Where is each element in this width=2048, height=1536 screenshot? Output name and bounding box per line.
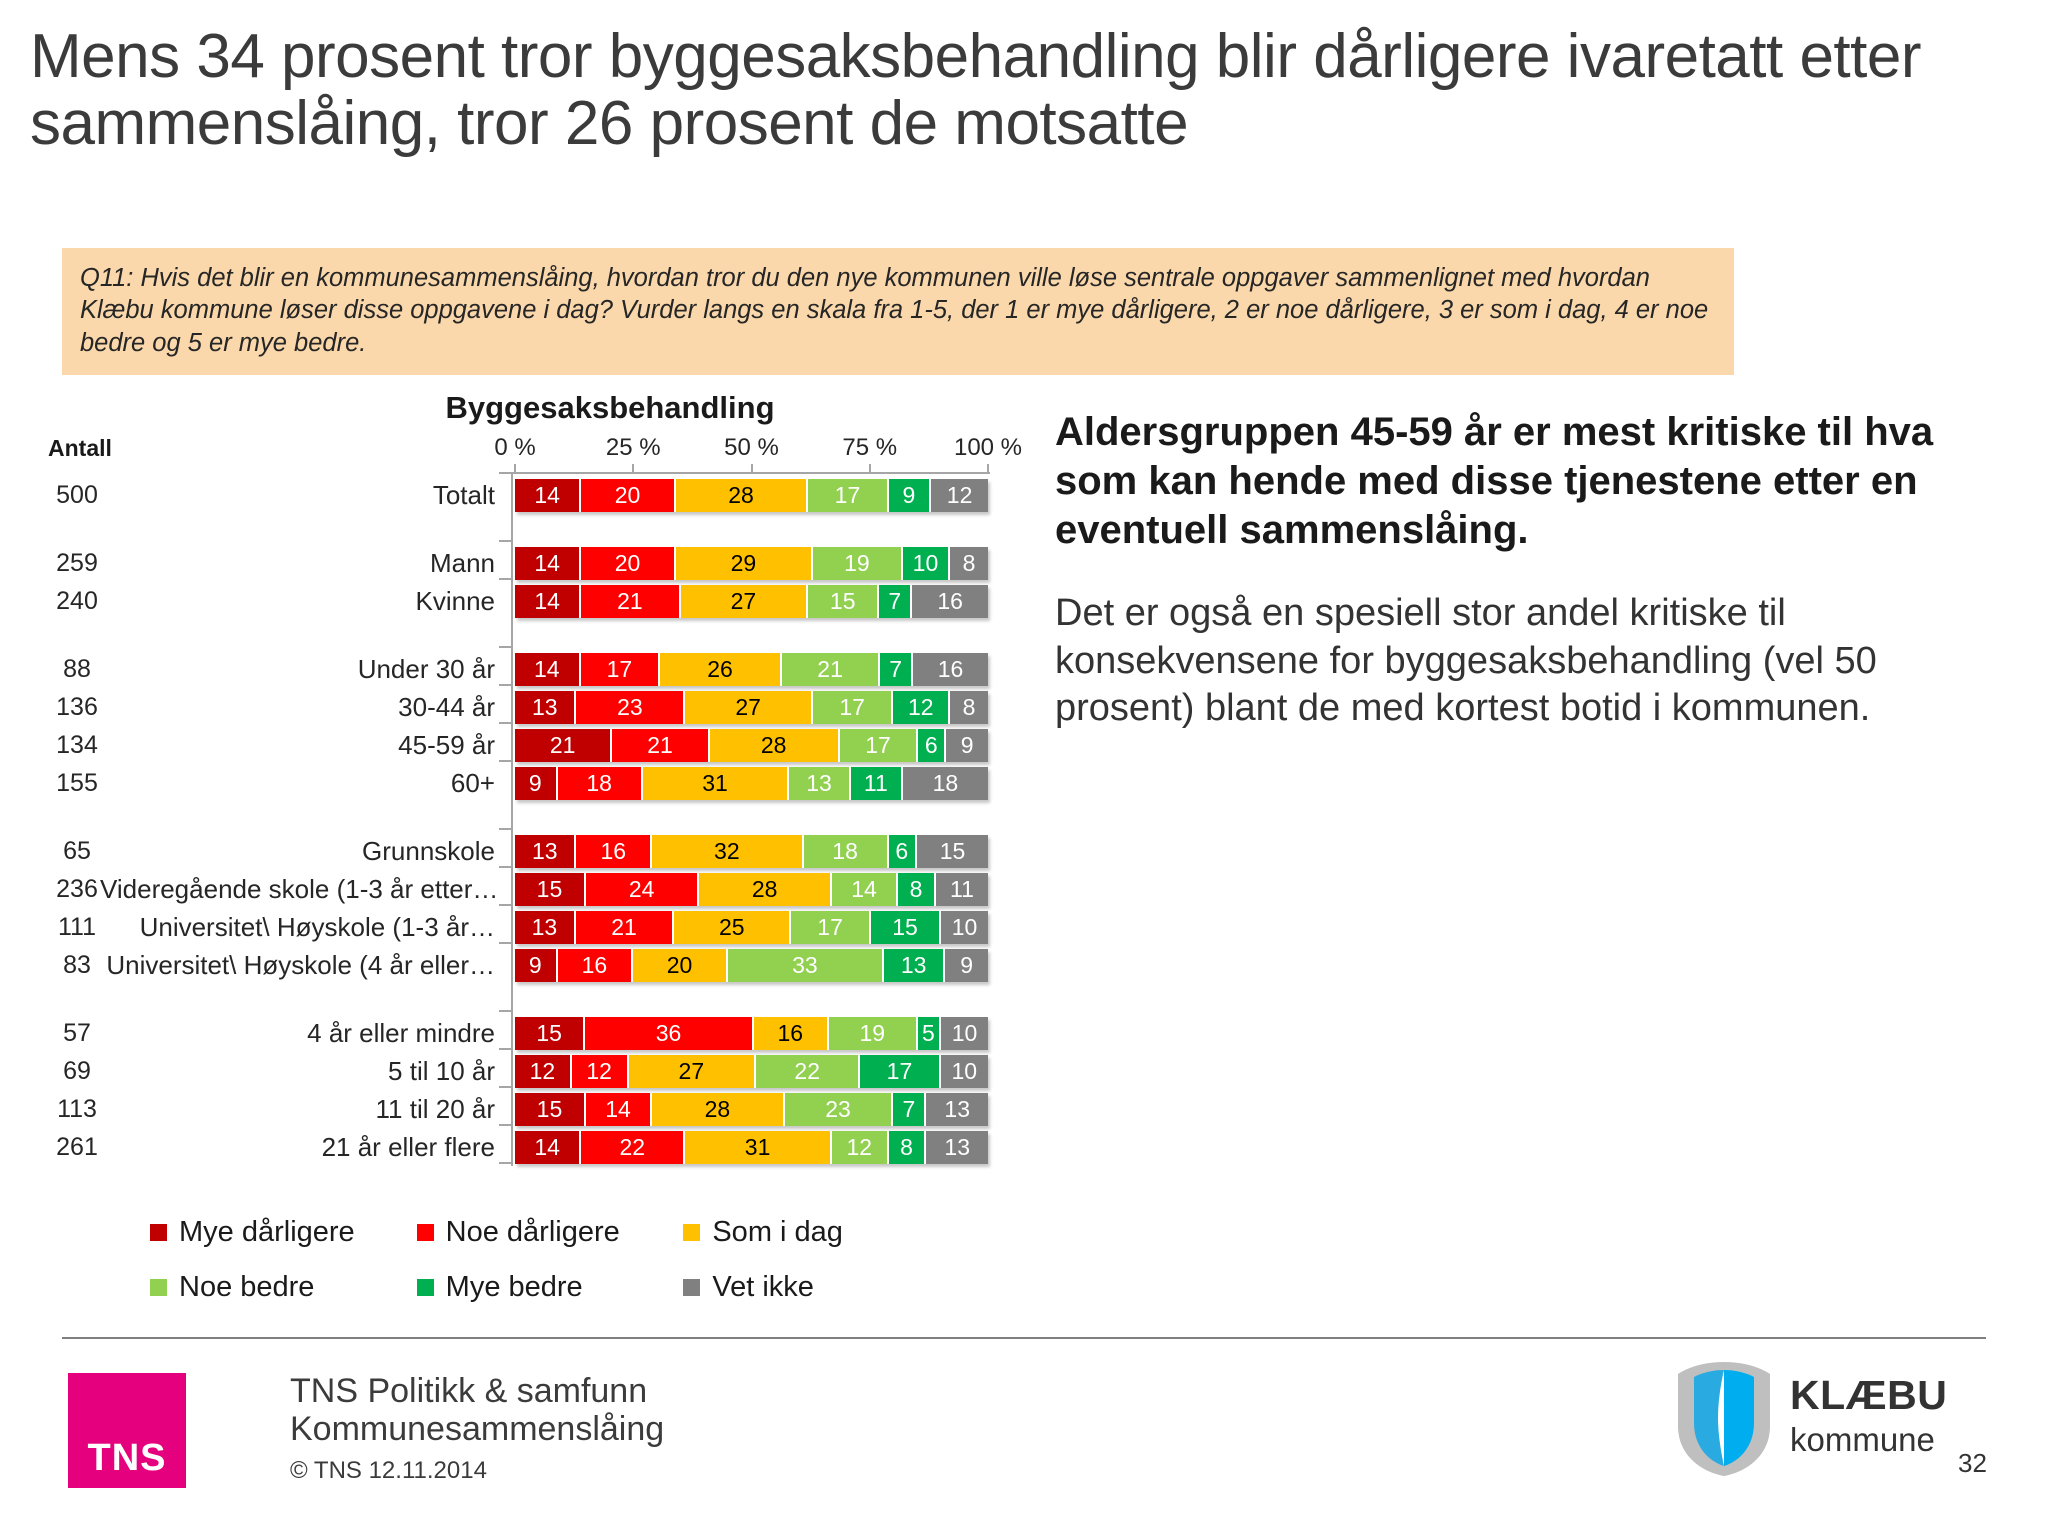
bar-segment: 14 bbox=[515, 653, 581, 686]
y-axis-tick bbox=[499, 722, 511, 724]
stacked-bar: 121227221710 bbox=[515, 1055, 988, 1088]
bar-segment: 13 bbox=[884, 949, 945, 982]
footer-text: TNS Politikk & samfunn Kommunesammenslåi… bbox=[290, 1372, 664, 1485]
row-label: Videregående skole (1-3 år etter… bbox=[100, 870, 495, 908]
x-axis-tick-label: 0 % bbox=[475, 434, 555, 462]
y-axis-tick bbox=[499, 904, 511, 906]
bar-segment: 10 bbox=[941, 1055, 988, 1088]
y-axis-tick bbox=[499, 684, 511, 686]
bar-segment: 26 bbox=[660, 653, 782, 686]
bar-segment: 8 bbox=[950, 547, 988, 580]
y-axis-tick bbox=[499, 646, 511, 648]
legend-label: Noe bedre bbox=[179, 1271, 314, 1304]
legend-item[interactable]: Mye dårligere bbox=[150, 1216, 417, 1249]
bar-segment: 15 bbox=[917, 835, 988, 868]
bar-segment: 16 bbox=[558, 949, 634, 982]
bar-segment: 19 bbox=[829, 1017, 918, 1050]
bar-segment: 36 bbox=[585, 1017, 754, 1050]
row-label: 60+ bbox=[100, 764, 495, 802]
bar-segment: 13 bbox=[926, 1093, 987, 1126]
chart-row: 695 til 10 år121227221710 bbox=[0, 1052, 1020, 1090]
bar-segment: 6 bbox=[918, 729, 946, 762]
legend-swatch-icon bbox=[150, 1224, 167, 1241]
chart-row: 500Totalt14202817912 bbox=[0, 476, 1020, 514]
legend-row: Noe bedreMye bedreVet ikke bbox=[150, 1271, 950, 1304]
bar-segment: 16 bbox=[754, 1017, 829, 1050]
klaebu-sub: kommune bbox=[1790, 1421, 1947, 1459]
commentary-body: Det er også en spesiell stor andel kriti… bbox=[1055, 590, 1985, 731]
stacked-bar: 9162033139 bbox=[515, 949, 988, 982]
y-axis-tick bbox=[499, 540, 511, 542]
chart-row: 574 år eller mindre15361619510 bbox=[0, 1014, 1020, 1052]
chart-row: 13445-59 år2121281769 bbox=[0, 726, 1020, 764]
stacked-bar: 13232717128 bbox=[515, 691, 988, 724]
tns-logo-text: TNS bbox=[68, 1437, 186, 1480]
legend-row: Mye dårligereNoe dårligereSom i dag bbox=[150, 1216, 950, 1249]
bar-segment: 14 bbox=[586, 1093, 652, 1126]
bar-segment: 15 bbox=[871, 911, 941, 944]
bar-segment: 11 bbox=[936, 873, 988, 906]
chart-row: 236Videregående skole (1-3 år etter…1524… bbox=[0, 870, 1020, 908]
y-axis-tick bbox=[499, 1086, 511, 1088]
bar-segment: 9 bbox=[515, 949, 558, 982]
bar-segment: 27 bbox=[629, 1055, 757, 1088]
bar-segment: 14 bbox=[832, 873, 898, 906]
row-label: Under 30 år bbox=[100, 650, 495, 688]
bar-segment: 21 bbox=[515, 729, 612, 762]
bar-segment: 14 bbox=[515, 1131, 581, 1164]
tns-logo: TNS bbox=[68, 1373, 186, 1488]
row-label: Universitet\ Høyskole (4 år eller… bbox=[100, 946, 495, 984]
y-axis-tick bbox=[499, 760, 511, 762]
chart: Byggesaksbehandling Antall 0 %25 %50 %75… bbox=[0, 390, 1020, 1190]
question-box: Q11: Hvis det blir en kommunesammenslåin… bbox=[62, 248, 1734, 375]
bar-segment: 9 bbox=[945, 949, 988, 982]
stacked-bar: 14223112813 bbox=[515, 1131, 988, 1164]
row-label: Kvinne bbox=[100, 582, 495, 620]
y-axis-tick bbox=[499, 828, 511, 830]
bar-segment: 27 bbox=[685, 691, 813, 724]
y-axis-tick bbox=[499, 578, 511, 580]
chart-row: 83Universitet\ Høyskole (4 år eller…9162… bbox=[0, 946, 1020, 984]
bar-segment: 13 bbox=[515, 691, 576, 724]
bar-segment: 8 bbox=[889, 1131, 927, 1164]
x-axis-tick-label: 25 % bbox=[593, 434, 673, 462]
bar-segment: 31 bbox=[685, 1131, 832, 1164]
chart-row: 88Under 30 år14172621716 bbox=[0, 650, 1020, 688]
bar-segment: 7 bbox=[880, 653, 913, 686]
x-axis-tick-label: 50 % bbox=[712, 434, 792, 462]
bar-segment: 8 bbox=[898, 873, 936, 906]
bar-segment: 18 bbox=[903, 767, 988, 800]
chart-row: 240Kvinne14212715716 bbox=[0, 582, 1020, 620]
chart-row: 259Mann14202919108 bbox=[0, 544, 1020, 582]
bar-segment: 32 bbox=[652, 835, 803, 868]
bar-segment: 28 bbox=[710, 729, 840, 762]
row-label: 30-44 år bbox=[100, 688, 495, 726]
bar-segment: 15 bbox=[515, 873, 586, 906]
y-axis-tick bbox=[499, 1162, 511, 1164]
bar-segment: 17 bbox=[860, 1055, 940, 1088]
bar-segment: 9 bbox=[889, 479, 932, 512]
footer-line-1: TNS Politikk & samfunn bbox=[290, 1372, 664, 1410]
bar-segment: 7 bbox=[879, 585, 912, 618]
bar-segment: 13 bbox=[926, 1131, 987, 1164]
bar-segment: 14 bbox=[515, 479, 581, 512]
y-axis-tick bbox=[499, 472, 511, 474]
bar-segment: 28 bbox=[652, 1093, 784, 1126]
bar-segment: 18 bbox=[804, 835, 889, 868]
legend-swatch-icon bbox=[417, 1279, 434, 1296]
row-label: 45-59 år bbox=[100, 726, 495, 764]
bar-segment: 9 bbox=[515, 767, 558, 800]
legend-swatch-icon bbox=[683, 1224, 700, 1241]
bar-segment: 17 bbox=[808, 479, 888, 512]
x-axis-tick-label: 75 % bbox=[830, 434, 910, 462]
legend-item[interactable]: Som i dag bbox=[683, 1216, 950, 1249]
chart-legend: Mye dårligereNoe dårligereSom i dagNoe b… bbox=[150, 1216, 950, 1326]
legend-item[interactable]: Noe dårligere bbox=[417, 1216, 684, 1249]
bar-segment: 27 bbox=[681, 585, 809, 618]
bar-segment: 22 bbox=[756, 1055, 860, 1088]
bar-segment: 20 bbox=[581, 479, 676, 512]
bar-segment: 29 bbox=[676, 547, 813, 580]
stacked-bar: 14202817912 bbox=[515, 479, 988, 512]
bar-segment: 11 bbox=[851, 767, 903, 800]
bar-segment: 12 bbox=[572, 1055, 629, 1088]
bar-segment: 15 bbox=[808, 585, 879, 618]
stacked-bar: 2121281769 bbox=[515, 729, 988, 762]
stacked-bar: 14202919108 bbox=[515, 547, 988, 580]
bar-segment: 12 bbox=[931, 479, 988, 512]
bar-segment: 21 bbox=[782, 653, 880, 686]
bar-segment: 28 bbox=[676, 479, 808, 512]
bar-segment: 31 bbox=[643, 767, 790, 800]
legend-label: Mye bedre bbox=[446, 1271, 583, 1304]
bar-segment: 33 bbox=[728, 949, 884, 982]
bar-segment: 16 bbox=[576, 835, 652, 868]
chart-row: 111Universitet\ Høyskole (1-3 år…1321251… bbox=[0, 908, 1020, 946]
bar-segment: 21 bbox=[581, 585, 680, 618]
bar-segment: 18 bbox=[558, 767, 643, 800]
bar-segment: 19 bbox=[813, 547, 903, 580]
bar-segment: 13 bbox=[515, 835, 576, 868]
bar-segment: 5 bbox=[918, 1017, 941, 1050]
bar-segment: 23 bbox=[785, 1093, 894, 1126]
commentary-panel: Aldersgruppen 45-59 år er mest kritiske … bbox=[1055, 408, 1985, 732]
bar-segment: 12 bbox=[832, 1131, 889, 1164]
legend-label: Vet ikke bbox=[712, 1271, 814, 1304]
footer-divider bbox=[62, 1337, 1986, 1339]
bar-segment: 16 bbox=[912, 585, 988, 618]
row-label: 21 år eller flere bbox=[100, 1128, 495, 1166]
chart-title: Byggesaksbehandling bbox=[280, 390, 940, 426]
bar-segment: 17 bbox=[791, 911, 871, 944]
bar-segment: 13 bbox=[515, 911, 576, 944]
legend-label: Noe dårligere bbox=[446, 1216, 620, 1249]
bar-segment: 9 bbox=[946, 729, 988, 762]
legend-item[interactable]: Mye bedre bbox=[417, 1271, 684, 1304]
stacked-bar: 13163218615 bbox=[515, 835, 988, 868]
legend-swatch-icon bbox=[150, 1279, 167, 1296]
row-label: Universitet\ Høyskole (1-3 år… bbox=[100, 908, 495, 946]
chart-row: 26121 år eller flere14223112813 bbox=[0, 1128, 1020, 1166]
legend-swatch-icon bbox=[683, 1279, 700, 1296]
bar-segment: 25 bbox=[674, 911, 791, 944]
bar-segment: 8 bbox=[950, 691, 988, 724]
bar-segment: 16 bbox=[913, 653, 988, 686]
bar-segment: 6 bbox=[889, 835, 917, 868]
stacked-bar: 132125171510 bbox=[515, 911, 988, 944]
y-axis-tick bbox=[499, 942, 511, 944]
row-label: Grunnskole bbox=[100, 832, 495, 870]
legend-label: Mye dårligere bbox=[179, 1216, 355, 1249]
stacked-bar: 15361619510 bbox=[515, 1017, 988, 1050]
bar-segment: 10 bbox=[903, 547, 950, 580]
legend-item[interactable]: Noe bedre bbox=[150, 1271, 417, 1304]
bar-segment: 7 bbox=[893, 1093, 926, 1126]
x-axis-tick bbox=[751, 464, 753, 474]
bar-segment: 14 bbox=[515, 585, 581, 618]
bar-segment: 12 bbox=[893, 691, 950, 724]
bar-segment: 17 bbox=[813, 691, 893, 724]
legend-item[interactable]: Vet ikke bbox=[683, 1271, 950, 1304]
row-label: Totalt bbox=[100, 476, 495, 514]
legend-label: Som i dag bbox=[712, 1216, 843, 1249]
commentary-heading: Aldersgruppen 45-59 år er mest kritiske … bbox=[1055, 408, 1985, 554]
x-axis-tick-labels: 0 %25 %50 %75 %100 % bbox=[0, 434, 1020, 468]
x-axis-tick-label: 100 % bbox=[948, 434, 1028, 462]
y-axis-tick bbox=[499, 1124, 511, 1126]
klaebu-shield-icon bbox=[1672, 1360, 1776, 1478]
bar-segment: 28 bbox=[699, 873, 831, 906]
chart-row: 13630-44 år13232717128 bbox=[0, 688, 1020, 726]
chart-row: 65Grunnskole13163218615 bbox=[0, 832, 1020, 870]
bar-segment: 10 bbox=[941, 911, 988, 944]
x-axis-tick bbox=[869, 464, 871, 474]
stacked-bar: 15242814811 bbox=[515, 873, 988, 906]
stacked-bar: 91831131118 bbox=[515, 767, 988, 800]
bar-segment: 24 bbox=[586, 873, 700, 906]
y-axis-tick bbox=[499, 1048, 511, 1050]
chart-row: 11311 til 20 år15142823713 bbox=[0, 1090, 1020, 1128]
bar-segment: 13 bbox=[789, 767, 850, 800]
row-label: 11 til 20 år bbox=[100, 1090, 495, 1128]
x-axis-tick bbox=[514, 464, 516, 474]
row-label: 5 til 10 år bbox=[100, 1052, 495, 1090]
y-axis-tick bbox=[499, 866, 511, 868]
stacked-bar: 14212715716 bbox=[515, 585, 988, 618]
bar-segment: 15 bbox=[515, 1017, 585, 1050]
klaebu-kommune-logo: KLÆBU kommune bbox=[1672, 1360, 2002, 1490]
footer-copyright: © TNS 12.11.2014 bbox=[290, 1457, 664, 1485]
bar-segment: 17 bbox=[840, 729, 919, 762]
legend-swatch-icon bbox=[417, 1224, 434, 1241]
page-number: 32 bbox=[1958, 1448, 1987, 1479]
bar-segment: 21 bbox=[612, 729, 709, 762]
footer-line-2: Kommunesammenslåing bbox=[290, 1410, 664, 1448]
bar-segment: 17 bbox=[581, 653, 661, 686]
bar-segment: 12 bbox=[515, 1055, 572, 1088]
klaebu-logo-text: KLÆBU kommune bbox=[1790, 1372, 1947, 1459]
bar-segment: 22 bbox=[581, 1131, 685, 1164]
bar-segment: 15 bbox=[515, 1093, 586, 1126]
bar-segment: 20 bbox=[581, 547, 676, 580]
bar-segment: 20 bbox=[633, 949, 728, 982]
page-title: Mens 34 prosent tror byggesaksbehandling… bbox=[30, 24, 2020, 158]
stacked-bar: 15142823713 bbox=[515, 1093, 988, 1126]
stacked-bar: 14172621716 bbox=[515, 653, 988, 686]
x-axis-tick bbox=[632, 464, 634, 474]
chart-row: 15560+91831131118 bbox=[0, 764, 1020, 802]
bar-segment: 14 bbox=[515, 547, 581, 580]
bar-segment: 10 bbox=[941, 1017, 988, 1050]
klaebu-name: KLÆBU bbox=[1790, 1372, 1947, 1419]
y-axis-tick bbox=[499, 1010, 511, 1012]
row-label: 4 år eller mindre bbox=[100, 1014, 495, 1052]
row-label: Mann bbox=[100, 544, 495, 582]
bar-segment: 23 bbox=[576, 691, 685, 724]
bar-segment: 21 bbox=[576, 911, 674, 944]
x-axis-tick bbox=[987, 464, 989, 474]
